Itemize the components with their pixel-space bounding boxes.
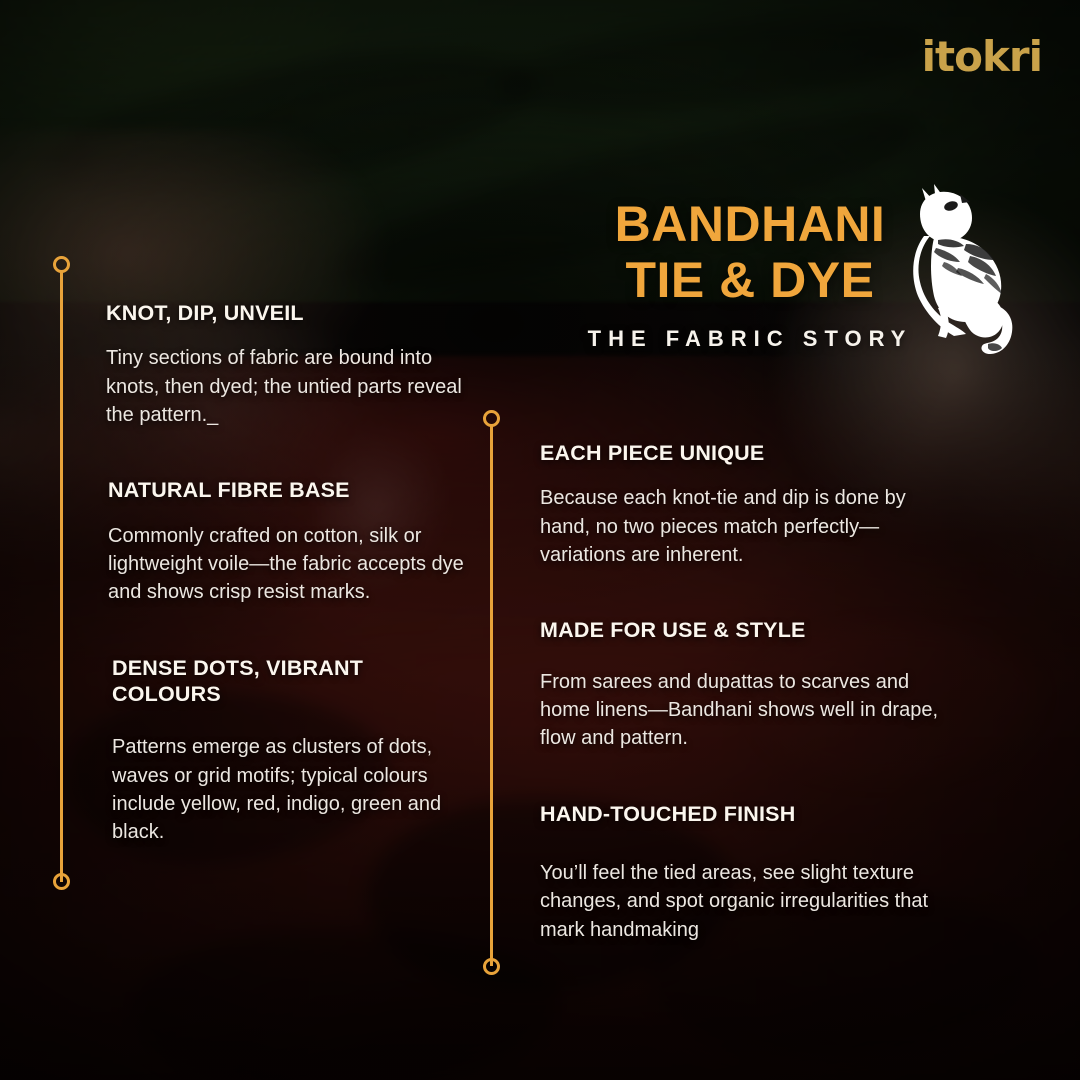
block-heading: MADE FOR USE & STYLE	[540, 617, 948, 643]
block-heading: DENSE DOTS, VIBRANT COLOURS	[112, 655, 474, 707]
block-heading: HAND-TOUCHED FINISH	[540, 801, 948, 827]
block-heading: EACH PIECE UNIQUE	[540, 440, 948, 466]
block-body: Because each knot-tie and dip is done by…	[540, 484, 948, 569]
right-rail-bottom-dot	[483, 958, 500, 975]
info-block: EACH PIECE UNIQUE Because each knot-tie …	[540, 440, 948, 569]
block-body: Tiny sections of fabric are bound into k…	[106, 344, 474, 429]
block-body: From sarees and dupattas to scarves and …	[540, 668, 948, 753]
right-connector-line	[490, 426, 493, 966]
block-body: You’ll feel the tied areas, see slight t…	[540, 859, 948, 944]
left-column: KNOT, DIP, UNVEIL Tiny sections of fabri…	[106, 300, 474, 847]
info-block: HAND-TOUCHED FINISH You’ll feel the tied…	[540, 801, 948, 944]
page-title-line1: BANDHANI	[540, 198, 960, 250]
right-rail-top-dot	[483, 410, 500, 427]
page-title-line2: TIE & DYE	[540, 254, 960, 306]
block-body: Commonly crafted on cotton, silk or ligh…	[108, 522, 474, 607]
left-rail-bottom-dot	[53, 873, 70, 890]
info-block: KNOT, DIP, UNVEIL Tiny sections of fabri…	[106, 300, 474, 429]
cat-illustration	[900, 178, 1018, 358]
info-block: MADE FOR USE & STYLE From sarees and dup…	[540, 617, 948, 752]
block-heading: NATURAL FIBRE BASE	[108, 477, 474, 503]
left-connector-line	[60, 272, 63, 882]
info-block: DENSE DOTS, VIBRANT COLOURS Patterns eme…	[112, 655, 474, 847]
right-column: EACH PIECE UNIQUE Because each knot-tie …	[540, 440, 948, 944]
infographic-poster: itokri BANDHANI TIE & DYE THE FABRIC STO…	[0, 0, 1080, 1080]
itokri-logo[interactable]: itokri	[922, 36, 1042, 78]
info-block: NATURAL FIBRE BASE Commonly crafted on c…	[108, 477, 474, 606]
left-rail-top-dot	[53, 256, 70, 273]
title-block: BANDHANI TIE & DYE THE FABRIC STORY	[540, 198, 960, 352]
block-heading: KNOT, DIP, UNVEIL	[106, 300, 474, 326]
block-body: Patterns emerge as clusters of dots, wav…	[112, 733, 474, 847]
page-subtitle: THE FABRIC STORY	[540, 326, 960, 352]
